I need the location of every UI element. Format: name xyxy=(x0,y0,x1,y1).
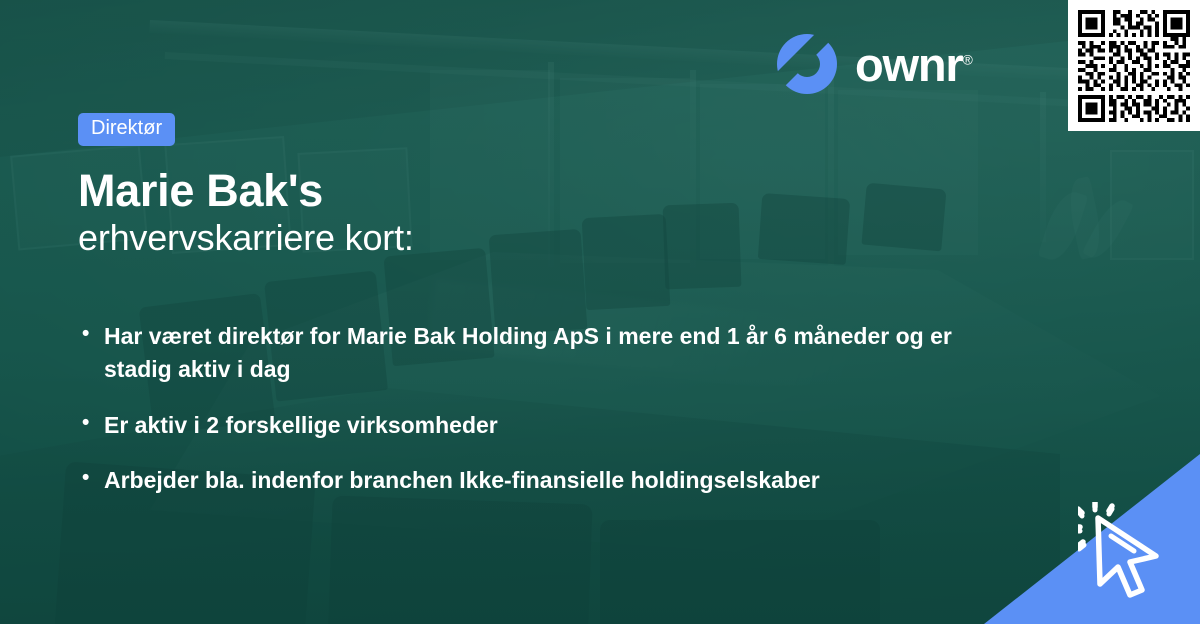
list-item: Har været direktør for Marie Bak Holding… xyxy=(78,320,978,387)
list-item: Arbejder bla. indenfor branchen Ikke-fin… xyxy=(78,464,978,497)
page-subtitle: erhvervskarriere kort: xyxy=(78,218,1100,258)
role-badge: Direktør xyxy=(78,113,175,146)
career-facts-list: Har været direktør for Marie Bak Holding… xyxy=(78,320,1100,497)
page-title: Marie Bak's xyxy=(78,168,1100,215)
career-card: ownr® Direktør Marie Bak's erhvervskarri… xyxy=(0,0,1200,624)
ownr-wordmark: ownr® xyxy=(855,41,973,88)
card-content: Direktør Marie Bak's erhvervskarriere ko… xyxy=(78,113,1100,519)
ownr-circle-mark xyxy=(776,33,838,95)
registered-trademark-icon: ® xyxy=(962,51,972,67)
ownr-logo[interactable]: ownr® xyxy=(776,33,973,95)
ownr-wordmark-text: ownr xyxy=(855,38,962,91)
qr-code-panel[interactable] xyxy=(1068,0,1200,131)
list-item: Er aktiv i 2 forskellige virksomheder xyxy=(78,409,978,442)
qr-code[interactable] xyxy=(1078,10,1190,122)
